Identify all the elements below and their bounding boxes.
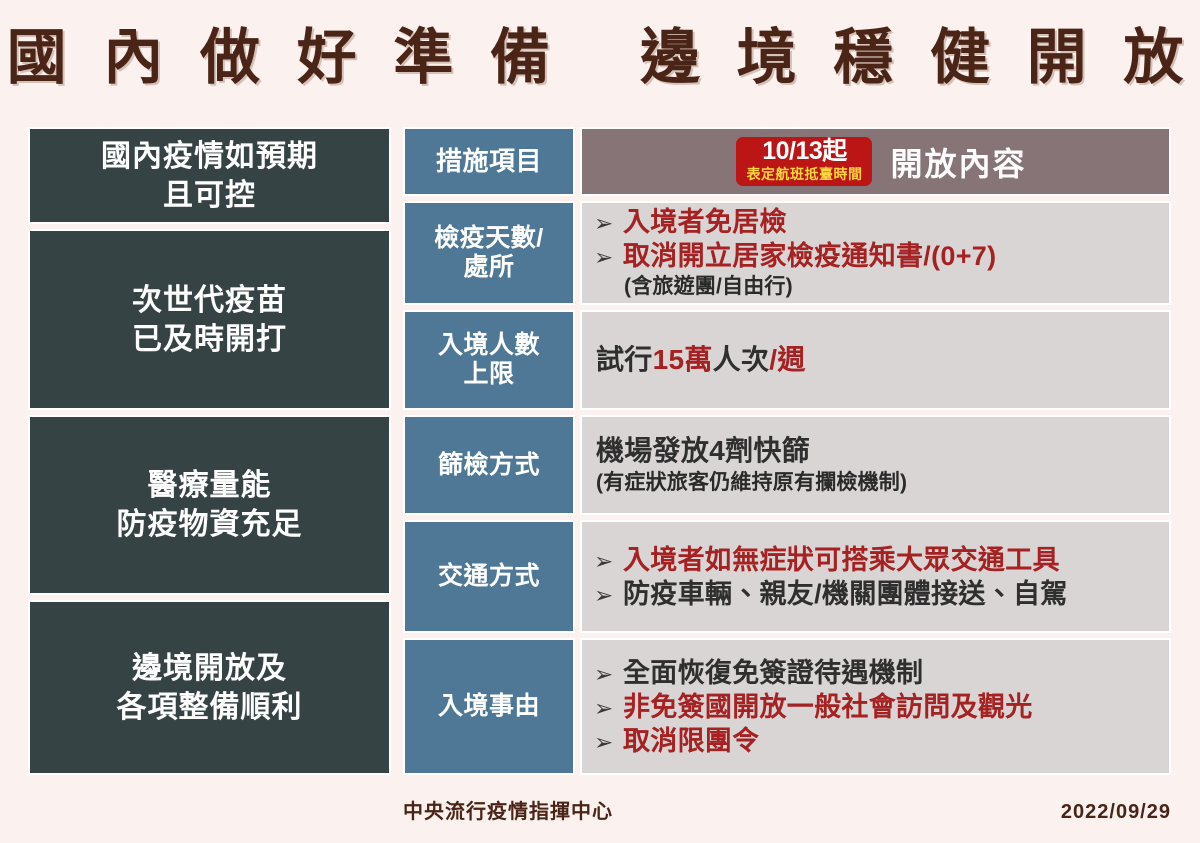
table-row: 入境事由 ➢ 全面恢復免簽證待遇機制 ➢ 非免簽國開放一般社會訪問及觀光 ➢ 取… — [403, 638, 1171, 775]
bullet-text: 入境者如無症狀可搭乘大眾交通工具 — [623, 543, 1159, 577]
entry-cap-value: 試行15萬人次/週 — [594, 342, 1159, 378]
table-row: 交通方式 ➢ 入境者如無症狀可搭乘大眾交通工具 ➢ 防疫車輛、親友/機關團體接送… — [403, 520, 1171, 633]
status-panel-text: 醫療量能 防疫物資充足 — [117, 466, 303, 544]
row-label-testing: 篩檢方式 — [403, 415, 575, 515]
table-row: 篩檢方式 機場發放4劑快篩 (有症狀旅客仍維持原有攔檢機制) — [403, 415, 1171, 515]
row-content-transport: ➢ 入境者如無症狀可搭乘大眾交通工具 ➢ 防疫車輛、親友/機關團體接送、自駕 — [580, 520, 1171, 633]
note-text: (有症狀旅客仍維持原有攔檢機制) — [594, 469, 1159, 497]
bullet-item: ➢ 防疫車輛、親友/機關團體接送、自駕 — [594, 577, 1159, 611]
row-label-transport: 交通方式 — [403, 520, 575, 633]
bullet-text: 防疫車輛、親友/機關團體接送、自駕 — [623, 577, 1159, 611]
bullet-item: ➢ 入境者免居檢 — [594, 205, 1159, 239]
row-label-entry-cap: 入境人數 上限 — [403, 310, 575, 410]
bullet-item: ➢ 取消限團令 — [594, 724, 1159, 758]
bullet-item: ➢ 入境者如無症狀可搭乘大眾交通工具 — [594, 543, 1159, 577]
arrow-bullet-icon: ➢ — [594, 550, 623, 573]
arrow-bullet-icon: ➢ — [594, 731, 623, 754]
table-row: 檢疫天數/ 處所 ➢ 入境者免居檢 ➢ 取消開立居家檢疫通知書/(0+7) (含… — [403, 201, 1171, 305]
bullet-item: ➢ 非免簽國開放一般社會訪問及觀光 — [594, 690, 1159, 724]
table-header-row: 措施項目 10/13起 表定航班抵臺時間 開放內容 — [403, 127, 1171, 196]
effective-date-text: 10/13起 — [746, 138, 862, 164]
row-label-quarantine: 檢疫天數/ 處所 — [403, 201, 575, 305]
footer-organization: 中央流行疫情指揮中心 — [403, 795, 613, 824]
row-content-entry-cap: 試行15萬人次/週 — [580, 310, 1171, 410]
arrow-bullet-icon: ➢ — [594, 663, 623, 686]
bullet-text: 入境者免居檢 — [623, 205, 1159, 239]
bullet-item: ➢ 全面恢復免簽證待遇機制 — [594, 656, 1159, 690]
row-label-entry-purpose: 入境事由 — [403, 638, 575, 775]
arrow-bullet-icon: ➢ — [594, 246, 623, 269]
status-panel-text: 次世代疫苗 已及時開打 — [132, 281, 287, 359]
bullet-text: 取消限團令 — [623, 724, 1159, 758]
column-header-content: 10/13起 表定航班抵臺時間 開放內容 — [580, 127, 1171, 196]
status-panel: 國內疫情如預期 且可控 — [28, 127, 391, 224]
table-row: 入境人數 上限 試行15萬人次/週 — [403, 310, 1171, 410]
column-header-measure: 措施項目 — [403, 127, 575, 196]
row-content-quarantine: ➢ 入境者免居檢 ➢ 取消開立居家檢疫通知書/(0+7) (含旅遊團/自由行) — [580, 201, 1171, 305]
note-text: (含旅遊團/自由行) — [594, 273, 1159, 301]
bullet-text: 非免簽國開放一般社會訪問及觀光 — [623, 690, 1159, 724]
bullet-item: ➢ 取消開立居家檢疫通知書/(0+7) — [594, 239, 1159, 273]
arrow-bullet-icon: ➢ — [594, 212, 623, 235]
arrow-bullet-icon: ➢ — [594, 697, 623, 720]
status-panel-list: 國內疫情如預期 且可控 次世代疫苗 已及時開打 醫療量能 防疫物資充足 邊境開放… — [28, 127, 391, 775]
effective-date-badge: 10/13起 表定航班抵臺時間 — [736, 137, 872, 185]
entry-cap-part: /週 — [769, 344, 805, 375]
status-panel-text: 邊境開放及 各項整備順利 — [117, 649, 303, 727]
row-content-testing: 機場發放4劑快篩 (有症狀旅客仍維持原有攔檢機制) — [580, 415, 1171, 515]
effective-date-note: 表定航班抵臺時間 — [746, 166, 862, 183]
bullet-text: 全面恢復免簽證待遇機制 — [623, 656, 1159, 690]
footer-date: 2022/09/29 — [1061, 801, 1171, 824]
status-panel: 醫療量能 防疫物資充足 — [28, 415, 391, 595]
testing-text: 機場發放4劑快篩 — [594, 433, 1159, 469]
open-content-heading: 開放內容 — [890, 139, 1026, 185]
footer: 中央流行疫情指揮中心 2022/09/29 — [403, 795, 1171, 824]
arrow-bullet-icon: ➢ — [594, 584, 623, 607]
bullet-text: 取消開立居家檢疫通知書/(0+7) — [623, 239, 1159, 273]
status-panel: 次世代疫苗 已及時開打 — [28, 229, 391, 410]
status-panel-text: 國內疫情如預期 且可控 — [101, 137, 318, 215]
entry-cap-part: 15萬 — [653, 344, 713, 375]
status-panel: 邊境開放及 各項整備順利 — [28, 600, 391, 775]
entry-cap-part: 人次 — [713, 344, 770, 375]
entry-cap-part: 試行 — [596, 344, 653, 375]
page-title: 國 內 做 好 準 備 邊 境 穩 健 開 放 — [0, 26, 1200, 89]
measures-table: 措施項目 10/13起 表定航班抵臺時間 開放內容 檢疫天數/ 處所 ➢ 入境者… — [403, 127, 1171, 775]
row-content-entry-purpose: ➢ 全面恢復免簽證待遇機制 ➢ 非免簽國開放一般社會訪問及觀光 ➢ 取消限團令 — [580, 638, 1171, 775]
